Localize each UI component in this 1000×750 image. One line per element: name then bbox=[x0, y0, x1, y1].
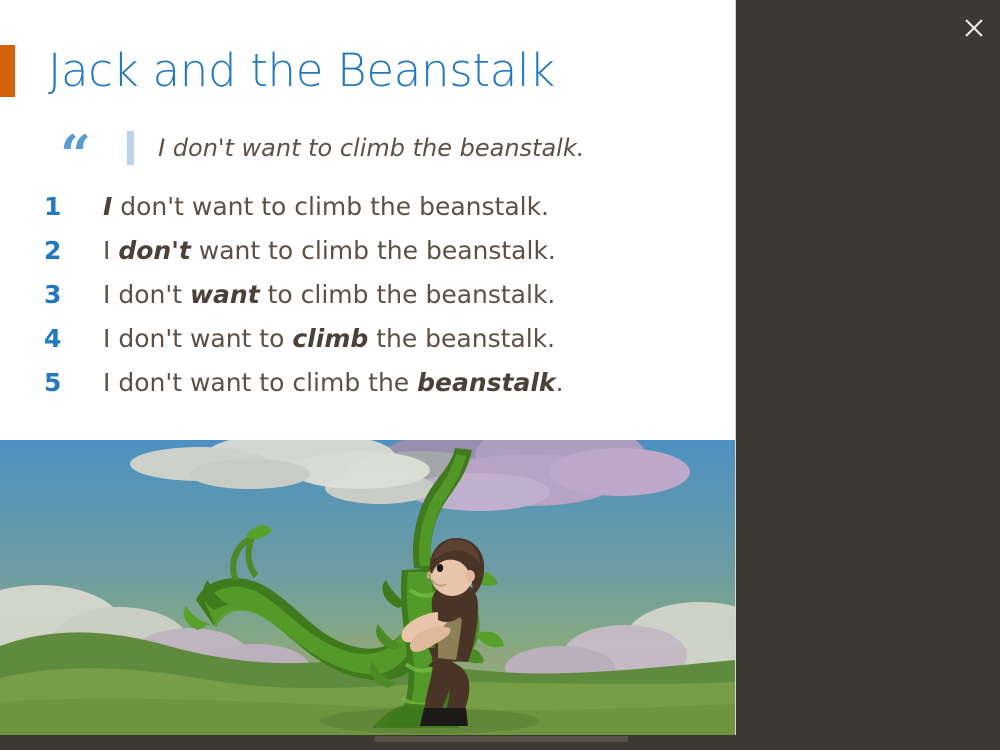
list-item-emphasis: want bbox=[190, 280, 260, 309]
close-icon bbox=[962, 16, 986, 40]
quote-text: I don't want to climb the beanstalk. bbox=[158, 134, 584, 162]
list-item-text: I don't want to climb the beanstalk. bbox=[103, 280, 555, 309]
quote-divider bbox=[127, 131, 134, 165]
list-item[interactable]: 4 I don't want to climb the beanstalk. bbox=[44, 324, 704, 368]
list-item-emphasis: beanstalk bbox=[417, 368, 555, 397]
list-item-emphasis: I bbox=[103, 192, 112, 221]
close-button[interactable] bbox=[956, 10, 992, 46]
list-item-number: 5 bbox=[44, 368, 103, 397]
list-item-number: 1 bbox=[44, 192, 103, 221]
title-accent-bar bbox=[0, 45, 15, 97]
list-item-number: 4 bbox=[44, 324, 103, 353]
list-item-text: I don't want to climb the beanstalk. bbox=[103, 324, 555, 353]
list-item-number: 2 bbox=[44, 236, 103, 265]
jack-climbing-beanstalk-illustration bbox=[0, 440, 735, 735]
presentation-viewer: Jack and the Beanstalk “ I don't want to… bbox=[0, 0, 1000, 750]
page-title: Jack and the Beanstalk bbox=[48, 44, 555, 97]
list-item[interactable]: 5 I don't want to climb the beanstalk. bbox=[44, 368, 704, 412]
vertical-scrollbar-track[interactable] bbox=[742, 0, 756, 735]
sentence-list: 1 I don't want to climb the beanstalk. 2… bbox=[44, 192, 704, 412]
list-item-after: to climb the beanstalk. bbox=[260, 280, 556, 309]
list-item-after: don't want to climb the beanstalk. bbox=[112, 192, 549, 221]
list-item-before: I don't want to bbox=[103, 324, 292, 353]
list-item-text: I don't want to climb the beanstalk. bbox=[103, 236, 556, 265]
quote-block: “ I don't want to climb the beanstalk. bbox=[60, 124, 584, 172]
list-item-number: 3 bbox=[44, 280, 103, 309]
list-item-after: want to climb the beanstalk. bbox=[191, 236, 556, 265]
list-item-emphasis: don't bbox=[118, 236, 190, 265]
list-item[interactable]: 3 I don't want to climb the beanstalk. bbox=[44, 280, 704, 324]
horizontal-scrollbar-thumb[interactable] bbox=[375, 736, 628, 742]
list-item[interactable]: 1 I don't want to climb the beanstalk. bbox=[44, 192, 704, 236]
list-item-text: I don't want to climb the beanstalk. bbox=[103, 192, 549, 221]
list-item-before: I don't want to climb the bbox=[103, 368, 417, 397]
list-item-before: I don't bbox=[103, 280, 190, 309]
list-item-text: I don't want to climb the beanstalk. bbox=[103, 368, 564, 397]
list-item-after: the beanstalk. bbox=[368, 324, 555, 353]
slide-panel: Jack and the Beanstalk “ I don't want to… bbox=[0, 0, 735, 735]
quote-mark-icon: “ bbox=[60, 134, 91, 177]
list-item-before: I bbox=[103, 236, 118, 265]
list-item-after: . bbox=[556, 368, 564, 397]
list-item[interactable]: 2 I don't want to climb the beanstalk. bbox=[44, 236, 704, 280]
list-item-emphasis: climb bbox=[292, 324, 368, 353]
